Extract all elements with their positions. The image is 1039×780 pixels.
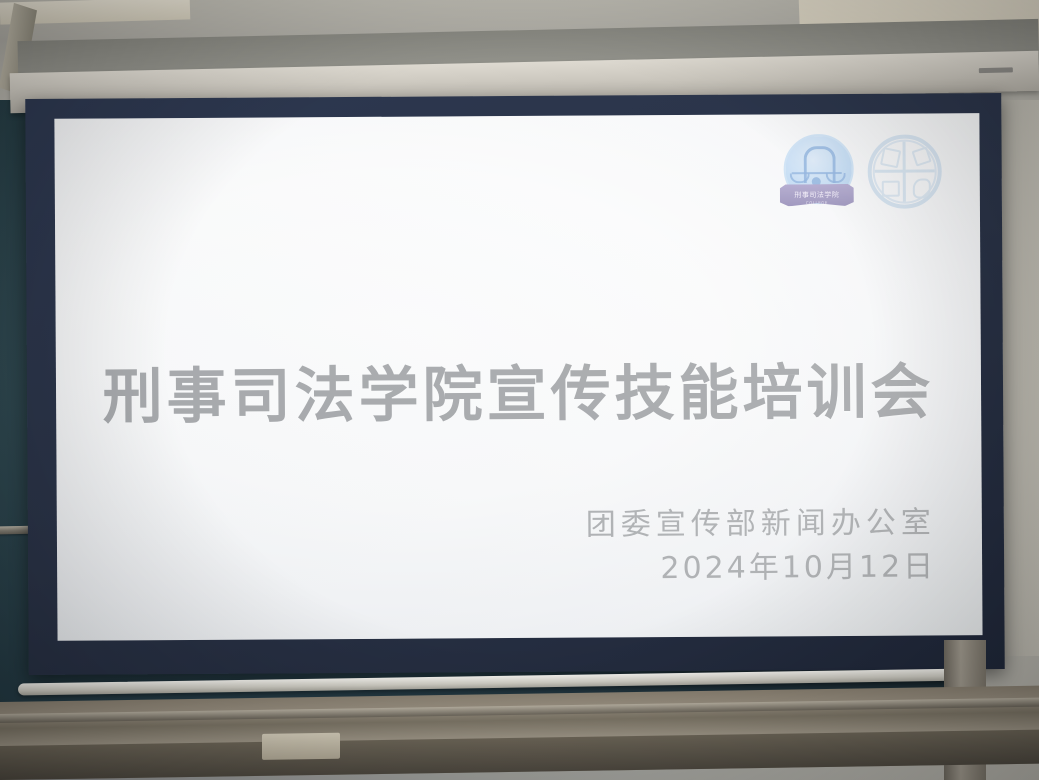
slide-organization: 团委宣传部新闻办公室 (586, 501, 936, 547)
crest-ribbon-subtext: COLLEGE (806, 200, 828, 205)
crest-ribbon: 刑事司法学院 COLLEGE (780, 184, 854, 206)
classroom-photo: 刑事司法学院 COLLEGE 刑事司法学院宣传技能培训会 团 (0, 0, 1039, 780)
projection-screen[interactable]: 刑事司法学院 COLLEGE 刑事司法学院宣传技能培训会 团 (25, 93, 1005, 675)
housing-brand-mark-icon (979, 67, 1013, 73)
seal-horizontal-stroke-icon (875, 169, 935, 172)
slide-date: 2024年10月12日 (586, 545, 936, 591)
seal-glyph-top-left-icon (880, 147, 901, 168)
chalk-piece[interactable] (262, 733, 340, 760)
circular-seal-logo (867, 134, 941, 208)
seal-glyph-bottom-left-icon (882, 181, 900, 197)
projected-slide: 刑事司法学院 COLLEGE 刑事司法学院宣传技能培训会 团 (54, 113, 982, 641)
chalk-ledge (0, 686, 1039, 780)
college-crest-logo: 刑事司法学院 COLLEGE (779, 132, 853, 212)
seal-glyph-bottom-right-icon (913, 178, 931, 198)
chalk-ledge-lip (0, 698, 1039, 723)
crest-ribbon-text: 刑事司法学院 (794, 190, 839, 200)
slide-footer: 团委宣传部新闻办公室 2024年10月12日 (586, 501, 937, 590)
slide-title: 刑事司法学院宣传技能培训会 (56, 343, 982, 436)
slide-logo-group: 刑事司法学院 COLLEGE (779, 131, 941, 212)
